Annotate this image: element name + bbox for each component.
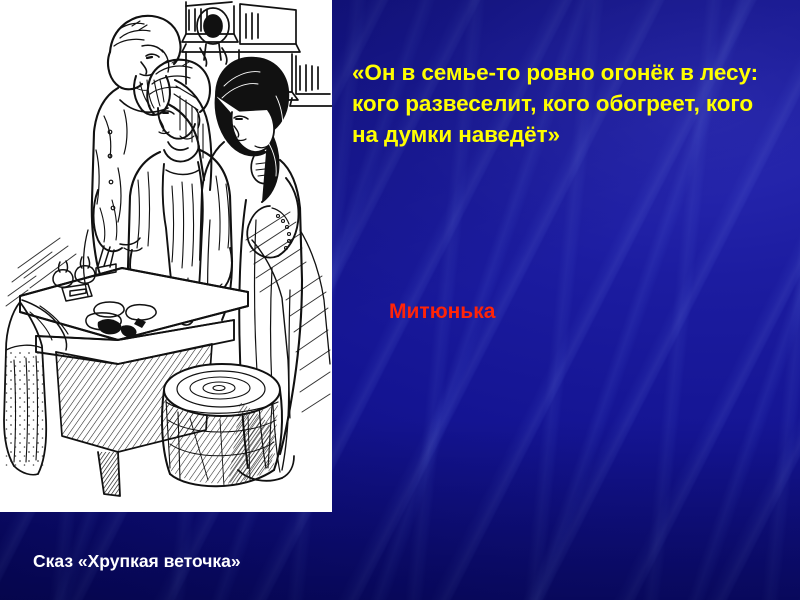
illustration-panel — [0, 0, 332, 512]
quote-text: «Он в семье-то ровно огонёк в лесу: кого… — [352, 57, 772, 150]
illustration-drawing — [0, 0, 332, 512]
story-caption: Сказ «Хрупкая веточка» — [33, 550, 241, 572]
presentation-slide: «Он в семье-то ровно огонёк в лесу: кого… — [0, 0, 800, 600]
character-name-label: Митюнька — [389, 300, 495, 324]
